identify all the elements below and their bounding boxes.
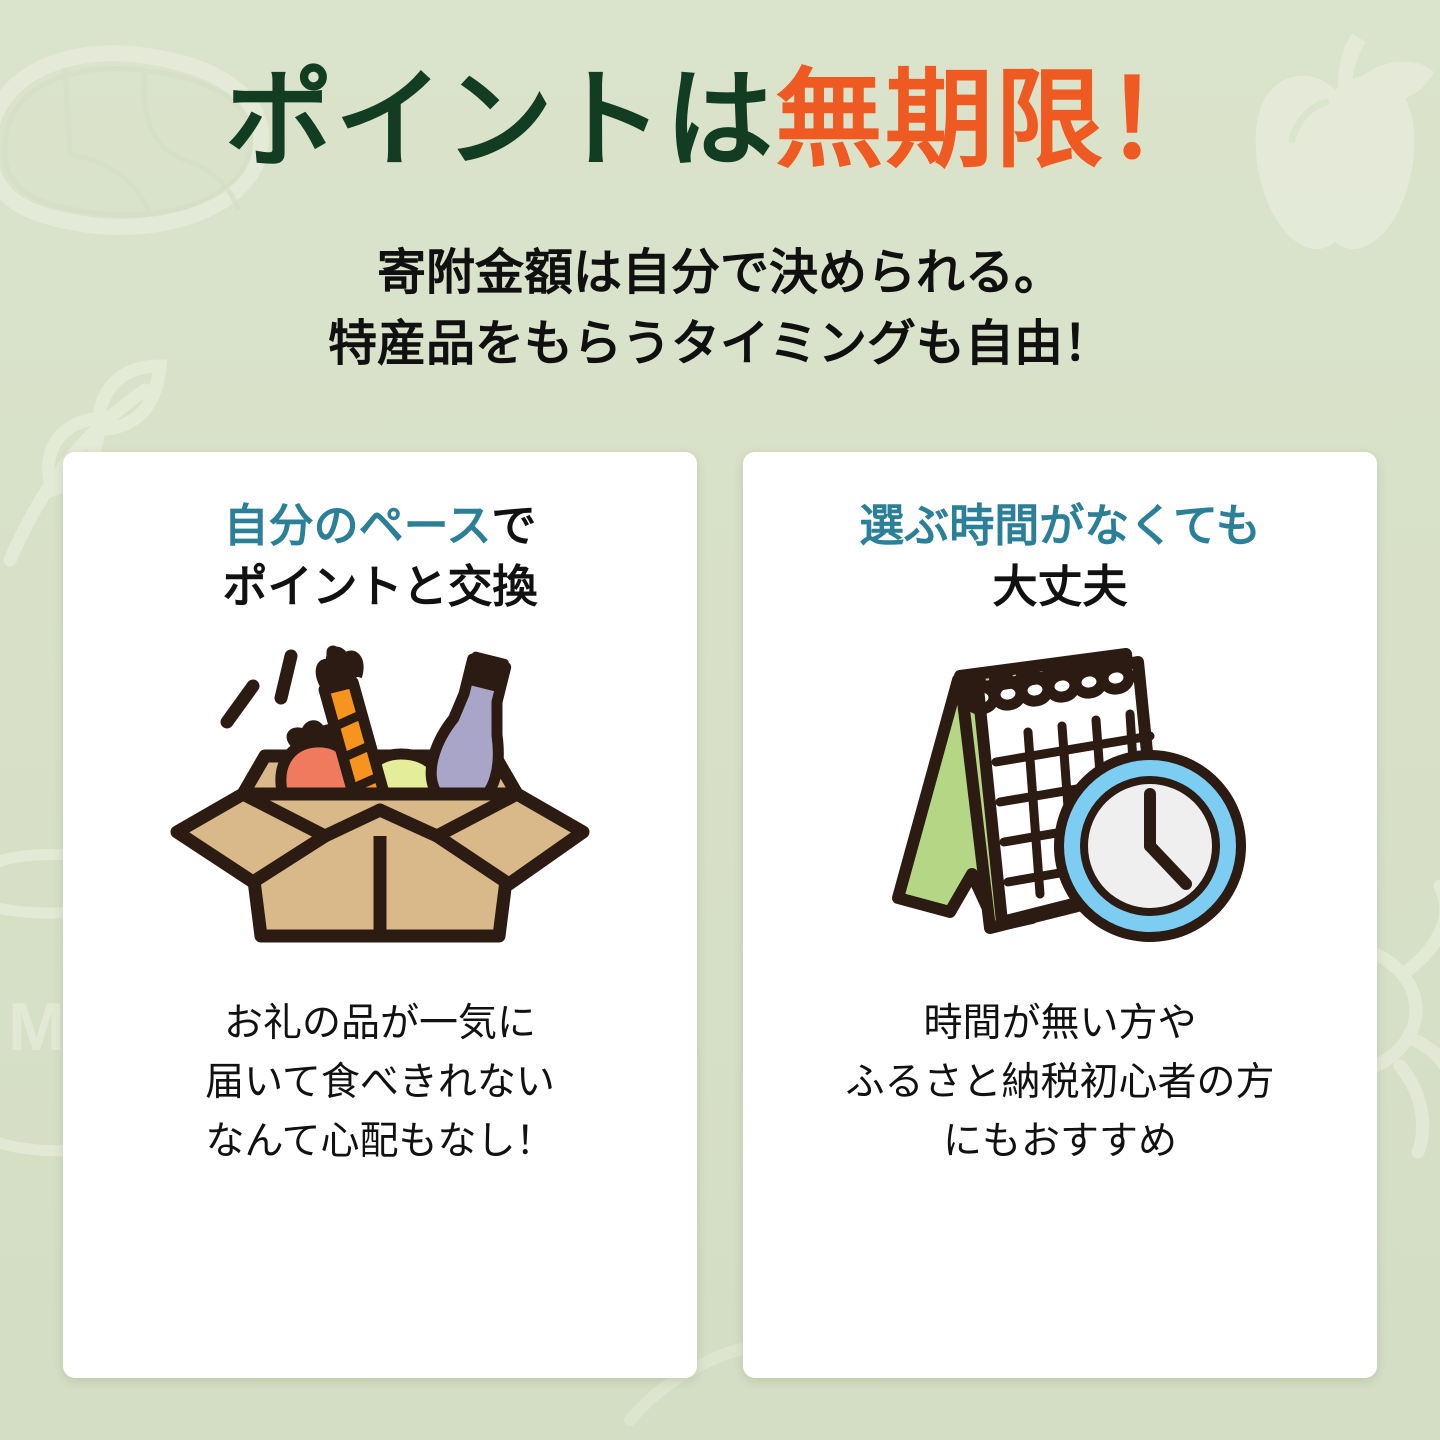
caption-line-3: にもおすすめ bbox=[845, 1112, 1274, 1171]
promo-graphic: MILK ポイントは無期限！ 寄附金額は自分で決められる。 bbox=[0, 0, 1440, 1440]
card-title-line1-teal: 自分のペース bbox=[224, 500, 492, 551]
card-title-line2: 大丈夫 bbox=[859, 557, 1260, 618]
subtitle-line-1: 寄附金額は自分で決められる。 bbox=[0, 238, 1440, 309]
feature-cards: 自分のペースで ポイントと交換 bbox=[63, 452, 1377, 1378]
open-box-with-goods-icon bbox=[165, 636, 595, 966]
subtitle-line-2: 特産品をもらうタイミングも自由！ bbox=[0, 309, 1440, 380]
caption-line-2: 届いて食べきれない bbox=[205, 1053, 555, 1112]
subtitle: 寄附金額は自分で決められる。 特産品をもらうタイミングも自由！ bbox=[0, 238, 1440, 380]
card-caption: 時間が無い方や ふるさと納税初心者の方 にもおすすめ bbox=[845, 994, 1274, 1172]
headline-orange-part: 無期限！ bbox=[775, 59, 1215, 180]
card-title-line1-black: で bbox=[491, 500, 536, 551]
card-self-pace: 自分のペースで ポイントと交換 bbox=[63, 452, 697, 1378]
caption-line-1: お礼の品が一気に bbox=[205, 994, 555, 1053]
card-caption: お礼の品が一気に 届いて食べきれない なんて心配もなし！ bbox=[205, 994, 555, 1172]
card-title-line2: ポイントと交換 bbox=[222, 557, 537, 618]
calendar-with-clock-icon bbox=[850, 636, 1270, 966]
card-title: 選ぶ時間がなくても 大丈夫 bbox=[859, 496, 1260, 618]
card-no-time-ok: 選ぶ時間がなくても 大丈夫 bbox=[743, 452, 1377, 1378]
caption-line-1: 時間が無い方や bbox=[845, 994, 1274, 1053]
headline: ポイントは無期限！ bbox=[0, 62, 1440, 179]
headline-green-part: ポイントは bbox=[225, 59, 775, 180]
caption-line-2: ふるさと納税初心者の方 bbox=[845, 1053, 1274, 1112]
caption-line-3: なんて心配もなし！ bbox=[205, 1112, 555, 1171]
card-title-line1-teal: 選ぶ時間がなくても bbox=[859, 500, 1260, 551]
card-title: 自分のペースで ポイントと交換 bbox=[222, 496, 537, 618]
